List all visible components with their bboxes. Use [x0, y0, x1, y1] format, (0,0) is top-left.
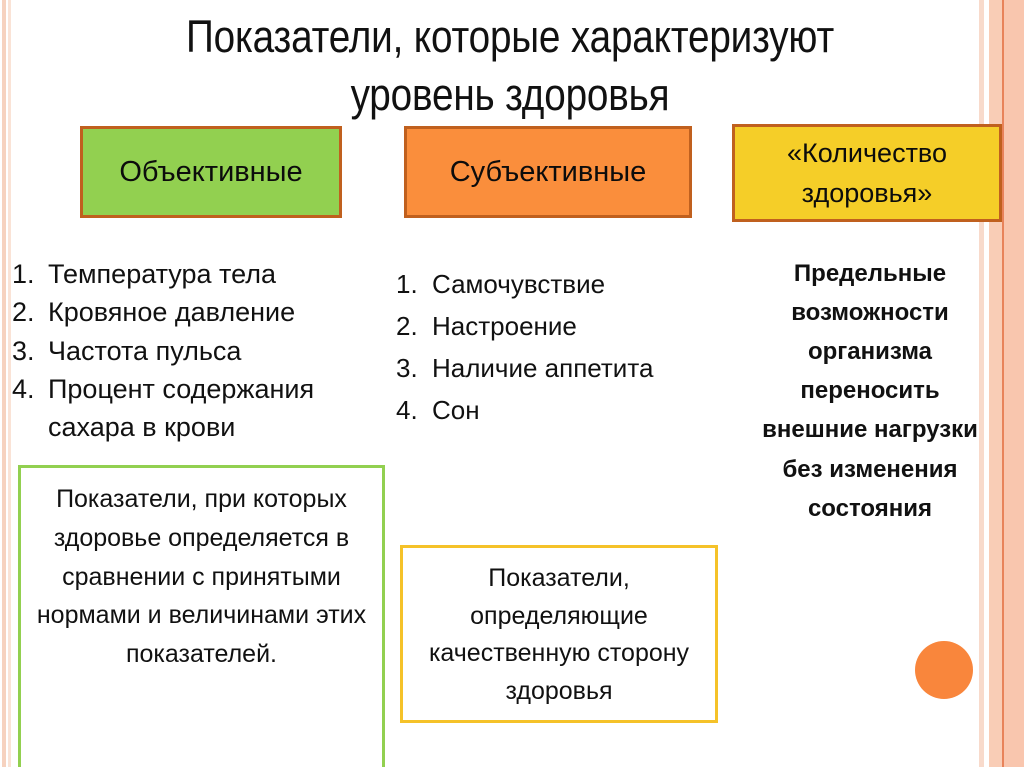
- list-item-number: 3.: [396, 347, 432, 389]
- list-item-label: Кровяное давление: [48, 293, 372, 331]
- list-item-number: 4.: [12, 370, 48, 408]
- header-chip-quantity-label: «Количество здоровья»: [735, 133, 999, 214]
- list-subjective-indicators: 1. Самочувствие 2. Настроение 3. Наличие…: [396, 263, 716, 431]
- list-item: 4. Процент содержания сахара в крови: [12, 370, 372, 447]
- list-item-label: Настроение: [432, 305, 716, 347]
- left-edge-stripe-outer: [2, 0, 6, 767]
- note-box-objective-text: Показатели, при которых здоровье определ…: [37, 485, 366, 668]
- list-item-label: Температура тела: [48, 255, 372, 293]
- note-box-objective: Показатели, при которых здоровье определ…: [18, 465, 385, 767]
- list-item-number: 3.: [12, 332, 48, 370]
- list-item: 1. Самочувствие: [396, 263, 716, 305]
- note-box-subjective: Показатели, определяющие качественную ст…: [400, 545, 718, 723]
- header-chip-subjective-label: Субъективные: [450, 156, 647, 189]
- right-edge-stripe-4: [1004, 0, 1024, 767]
- list-item: 2. Настроение: [396, 305, 716, 347]
- list-item-label: Частота пульса: [48, 332, 372, 370]
- list-item-number: 2.: [396, 305, 432, 347]
- list-item-label: Сон: [432, 389, 716, 431]
- list-item-number: 2.: [12, 293, 48, 331]
- right-edge-stripe-2: [989, 0, 1002, 767]
- paragraph-quantity-of-health: Предельные возможности организма перенос…: [756, 254, 984, 528]
- note-box-subjective-text: Показатели, определяющие качественную ст…: [429, 564, 689, 705]
- header-chip-objective-label: Объективные: [119, 156, 302, 189]
- list-item-label: Наличие аппетита: [432, 347, 716, 389]
- list-item: 1. Температура тела: [12, 255, 372, 293]
- list-item: 2. Кровяное давление: [12, 293, 372, 331]
- list-item-number: 1.: [396, 263, 432, 305]
- header-chip-objective: Объективные: [80, 126, 342, 218]
- header-chip-subjective: Субъективные: [404, 126, 692, 218]
- slide-title: Показатели, которые характеризуют уровен…: [123, 8, 897, 123]
- list-objective-indicators: 1. Температура тела 2. Кровяное давление…: [12, 255, 372, 447]
- left-edge-stripe-inner: [8, 0, 11, 767]
- header-chip-quantity: «Количество здоровья»: [732, 124, 1002, 222]
- list-item: 3. Частота пульса: [12, 332, 372, 370]
- list-item-label: Процент содержания сахара в крови: [48, 370, 372, 447]
- list-item-number: 4.: [396, 389, 432, 431]
- list-item: 4. Сон: [396, 389, 716, 431]
- list-item: 3. Наличие аппетита: [396, 347, 716, 389]
- list-item-number: 1.: [12, 255, 48, 293]
- list-item-label: Самочувствие: [432, 263, 716, 305]
- orange-circle-icon: [915, 641, 973, 699]
- slide-canvas: Показатели, которые характеризуют уровен…: [0, 0, 1024, 767]
